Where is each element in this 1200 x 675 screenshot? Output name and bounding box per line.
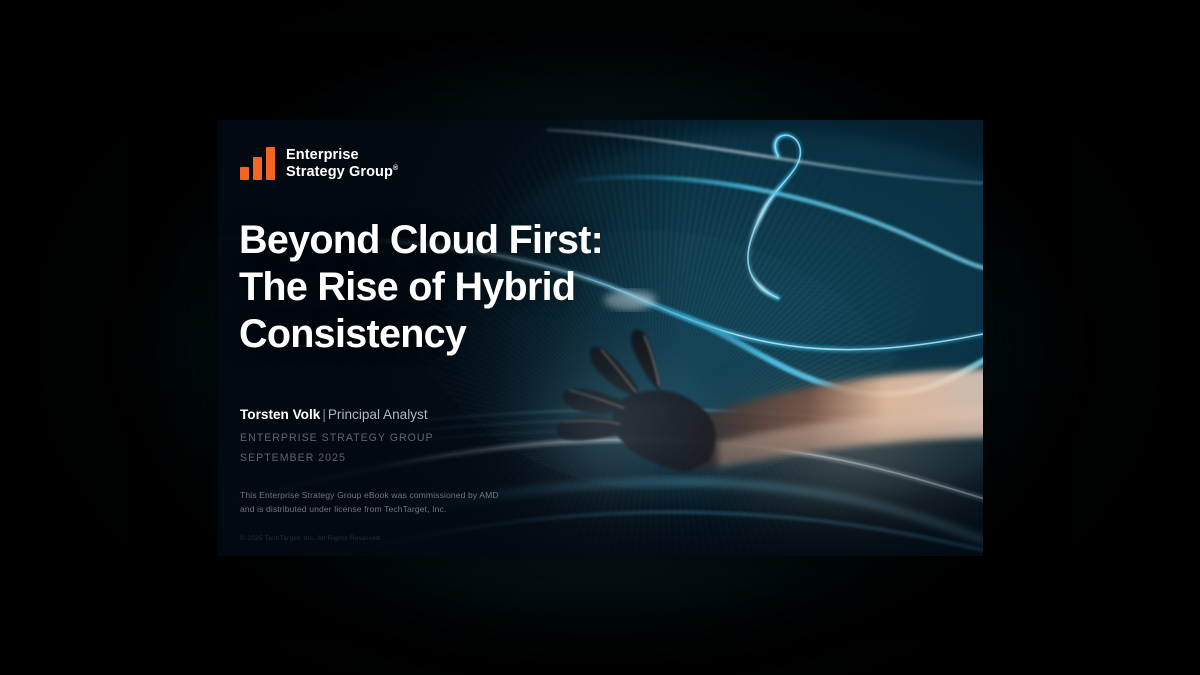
page-title: Beyond Cloud First: The Rise of Hybrid C…: [239, 217, 639, 358]
byline-separator: |: [320, 407, 328, 422]
publication-date: SEPTEMBER 2025: [240, 448, 600, 468]
author-organization: ENTERPRISE STRATEGY GROUP: [240, 428, 600, 448]
author-role: Principal Analyst: [328, 407, 428, 422]
copyright-text: © 2025 TechTarget, Inc. All Rights Reser…: [240, 535, 382, 542]
esg-logo: Enterprise Strategy Group®: [240, 146, 398, 180]
esg-logo-line1: Enterprise: [286, 147, 359, 163]
byline: Torsten Volk|Principal Analyst: [240, 406, 600, 424]
page-background: Enterprise Strategy Group® Beyond Cloud …: [0, 0, 1200, 675]
author-block: Torsten Volk|Principal Analyst ENTERPRIS…: [240, 406, 600, 469]
trademark-icon: ®: [393, 165, 398, 172]
esg-logo-line2: Strategy Group: [286, 164, 393, 180]
ebook-cover-card: Enterprise Strategy Group® Beyond Cloud …: [218, 120, 983, 556]
esg-bar-chart-logo-icon: [240, 147, 275, 180]
cover-content: Enterprise Strategy Group® Beyond Cloud …: [218, 120, 983, 556]
esg-logo-wordmark: Enterprise Strategy Group®: [286, 147, 398, 181]
disclaimer-text: This Enterprise Strategy Group eBook was…: [240, 489, 570, 517]
author-name: Torsten Volk: [240, 407, 320, 422]
